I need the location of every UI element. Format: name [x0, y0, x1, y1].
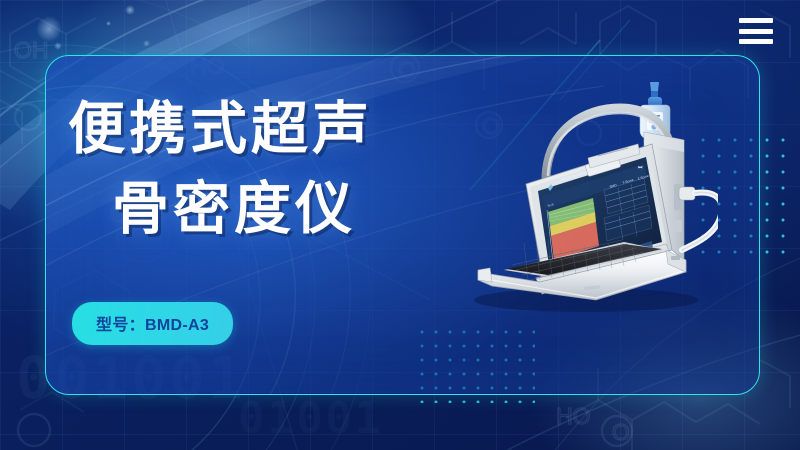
hamburger-bar: [739, 18, 773, 23]
bokeh-dot: [106, 21, 111, 26]
hamburger-bar: [739, 29, 773, 34]
model-badge-label: 型号：BMD-A3: [96, 311, 209, 335]
bone-densitometer-illustration: Measurement Result: [468, 72, 718, 312]
banner-stage: HO O O OH OH O HO 001001 01001: [0, 0, 800, 450]
svg-text:HO: HO: [556, 403, 591, 429]
page-title: 便携式超声 骨密度仪: [68, 100, 468, 238]
svg-text:O: O: [612, 419, 630, 445]
bokeh-dot: [54, 42, 62, 50]
binary-text-secondary: 01001: [238, 393, 384, 444]
svg-text:OH: OH: [14, 37, 49, 63]
bokeh-dot: [125, 5, 135, 15]
title-line-2: 骨密度仪: [112, 180, 468, 238]
bokeh-dot: [143, 40, 150, 47]
model-badge: 型号：BMD-A3: [72, 302, 233, 345]
title-line-1: 便携式超声: [68, 100, 468, 158]
device-image: Measurement Result: [468, 72, 718, 312]
bokeh-dot: [36, 16, 62, 42]
hamburger-bar: [739, 39, 773, 44]
probe-cable: [679, 187, 718, 250]
hamburger-menu-icon[interactable]: [739, 18, 773, 44]
